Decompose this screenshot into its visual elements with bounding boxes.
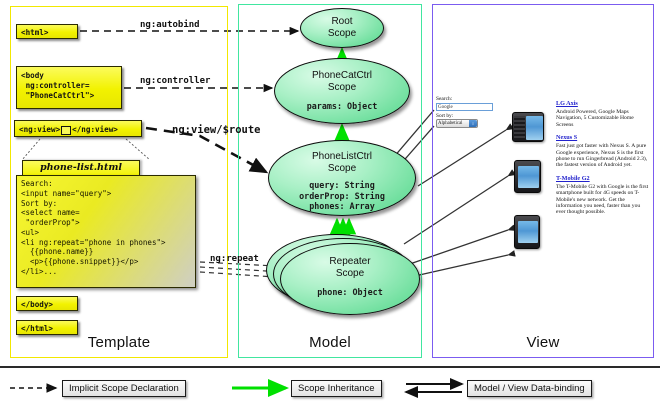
scope-phonecatctrl: PhoneCatCtrl Scope params: Object bbox=[274, 58, 410, 124]
phone-snippet: Android Powered, Google Maps Navigation,… bbox=[556, 109, 650, 128]
phone-screen bbox=[518, 221, 538, 243]
code-box-body-open: <body ng:controller= "PhoneCatCtrl"> bbox=[16, 66, 122, 109]
arrow-label-repeat: ng:repeat bbox=[210, 254, 259, 264]
phone-snippet: Fast just got faster with Nexus S. A pur… bbox=[556, 143, 650, 169]
arrow-label-controller: ng:controller bbox=[140, 76, 210, 86]
phone-link[interactable]: T-Mobile G2 bbox=[556, 175, 650, 182]
code-box-ng-view: <ng:view></ng:view> bbox=[14, 120, 142, 137]
scope-repeater: Repeater Scope phone: Object bbox=[280, 243, 420, 315]
chevron-updown-icon: ↕ bbox=[469, 120, 477, 127]
scope-phonelistctrl-title-2: Scope bbox=[269, 163, 415, 175]
legend-divider bbox=[0, 366, 660, 368]
legend-item-implicit-scope: Implicit Scope Declaration bbox=[62, 380, 186, 397]
phone-thumbnail-lg-axis bbox=[512, 112, 544, 142]
code-box-body-close: </body> bbox=[16, 296, 78, 311]
scope-phonecatctrl-props: params: Object bbox=[275, 101, 409, 112]
scope-root: Root Scope bbox=[300, 8, 384, 48]
scope-repeater-props: phone: Object bbox=[281, 287, 419, 298]
ng-view-close-tag: </ng:view> bbox=[72, 125, 118, 134]
callout-filename: phone-list.html bbox=[22, 160, 140, 176]
scope-phonelistctrl-props: query: String orderProp: String phones: … bbox=[269, 180, 415, 212]
sort-select-value: Alphabetical bbox=[438, 121, 463, 126]
scope-root-title-2: Scope bbox=[301, 28, 383, 40]
callout-code: Search: <input name="query"> Sort by: <s… bbox=[16, 175, 196, 288]
view-search-panel: Search: Google Sort by: Alphabetical ↕ bbox=[436, 96, 496, 142]
column-label-view: View bbox=[432, 334, 654, 351]
scope-root-title-1: Root bbox=[301, 16, 383, 28]
legend: Implicit Scope Declaration Scope Inherit… bbox=[0, 370, 660, 405]
sort-select[interactable]: Alphabetical ↕ bbox=[436, 119, 478, 128]
phone-snippet: The T-Mobile G2 with Google is the first… bbox=[556, 184, 650, 216]
search-input[interactable]: Google bbox=[436, 103, 493, 111]
scope-phonelistctrl-title-1: PhoneListCtrl bbox=[269, 151, 415, 163]
phone-thumbnail-nexus-s bbox=[514, 160, 541, 193]
phone-keyboard-icon bbox=[514, 116, 525, 140]
phone-list-callout: phone-list.html Search: <input name="que… bbox=[16, 160, 196, 289]
phone-screen bbox=[518, 166, 539, 188]
arrow-label-view-route: ng:view/$route bbox=[172, 124, 261, 136]
phone-result-list: LG Axis Android Powered, Google Maps Nav… bbox=[556, 100, 650, 222]
list-item: LG Axis Android Powered, Google Maps Nav… bbox=[556, 100, 650, 128]
legend-item-scope-inheritance: Scope Inheritance bbox=[291, 380, 382, 397]
scope-phonecatctrl-title-2: Scope bbox=[275, 82, 409, 94]
phone-screen bbox=[526, 116, 543, 140]
scope-phonelistctrl: PhoneListCtrl Scope query: String orderP… bbox=[268, 140, 416, 216]
phone-thumbnail-tmobile-g2 bbox=[514, 215, 540, 249]
arrow-label-autobind: ng:autobind bbox=[140, 20, 200, 30]
legend-item-data-binding: Model / View Data-binding bbox=[467, 380, 592, 397]
ng-view-open-tag: <ng:view> bbox=[19, 125, 60, 134]
column-label-template: Template bbox=[10, 334, 228, 351]
list-item: Nexus S Fast just got faster with Nexus … bbox=[556, 134, 650, 169]
scope-repeater-title-2: Scope bbox=[281, 268, 419, 280]
list-item: T-Mobile G2 The T-Mobile G2 with Google … bbox=[556, 175, 650, 216]
column-label-model: Model bbox=[238, 334, 422, 351]
phone-link[interactable]: Nexus S bbox=[556, 134, 650, 141]
scope-phonecatctrl-title-1: PhoneCatCtrl bbox=[275, 70, 409, 82]
code-box-html-open: <html> bbox=[16, 24, 78, 39]
diagram-canvas: Template Model View <html> <body ng:cont… bbox=[0, 0, 660, 405]
phone-link[interactable]: LG Axis bbox=[556, 100, 650, 107]
ng-view-placeholder-icon bbox=[61, 126, 71, 135]
scope-repeater-title-1: Repeater bbox=[281, 256, 419, 268]
code-box-html-close: </html> bbox=[16, 320, 78, 335]
